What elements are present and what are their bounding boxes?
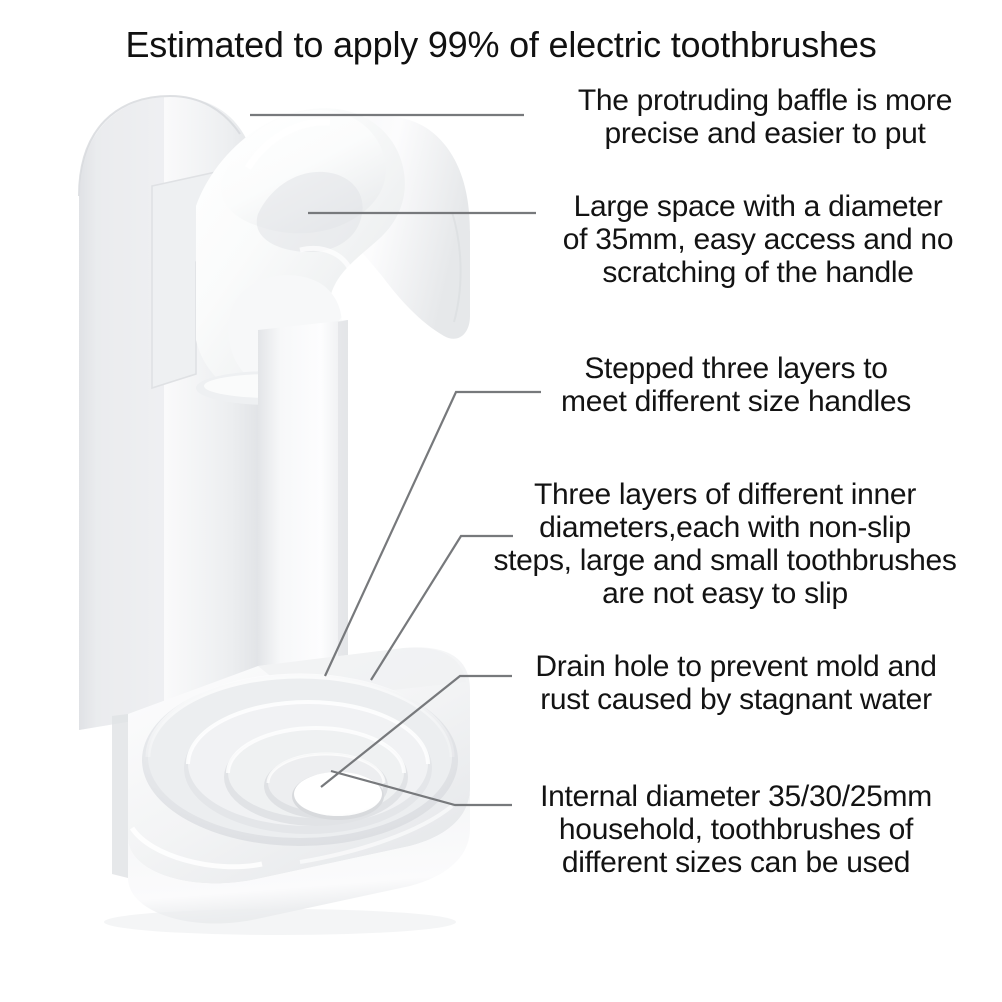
callout-line: are not easy to slip [448, 577, 1002, 610]
callout-line: The protruding baffle is more [528, 84, 1002, 117]
callout-line: scratching of the handle [514, 256, 1002, 289]
callout-stepped-three-layers: Stepped three layers to meet different s… [470, 352, 1002, 418]
callout-line: of 35mm, easy access and no [514, 223, 1002, 256]
callout-line: Stepped three layers to [470, 352, 1002, 385]
callout-drain-hole: Drain hole to prevent mold and rust caus… [470, 650, 1002, 716]
callout-internal-diameter: Internal diameter 35/30/25mm household, … [470, 780, 1002, 879]
callout-line: meet different size handles [470, 385, 1002, 418]
callout-three-inner-diameters: Three layers of different inner diameter… [448, 478, 1002, 610]
infographic-page: Estimated to apply 99% of electric tooth… [0, 0, 1002, 1002]
callout-line: different sizes can be used [470, 846, 1002, 879]
callout-line: Internal diameter 35/30/25mm [470, 780, 1002, 813]
callout-line: Large space with a diameter [514, 190, 1002, 223]
callout-protruding-baffle: The protruding baffle is more precise an… [528, 84, 1002, 150]
callout-line: steps, large and small toothbrushes [448, 544, 1002, 577]
callout-line: Three layers of different inner [448, 478, 1002, 511]
callout-line: Drain hole to prevent mold and [470, 650, 1002, 683]
callout-line: precise and easier to put [528, 117, 1002, 150]
callout-line: household, toothbrushes of [470, 813, 1002, 846]
callout-large-space-diameter: Large space with a diameter of 35mm, eas… [514, 190, 1002, 289]
callout-line: rust caused by stagnant water [470, 683, 1002, 716]
callout-line: diameters,each with non-slip [448, 511, 1002, 544]
